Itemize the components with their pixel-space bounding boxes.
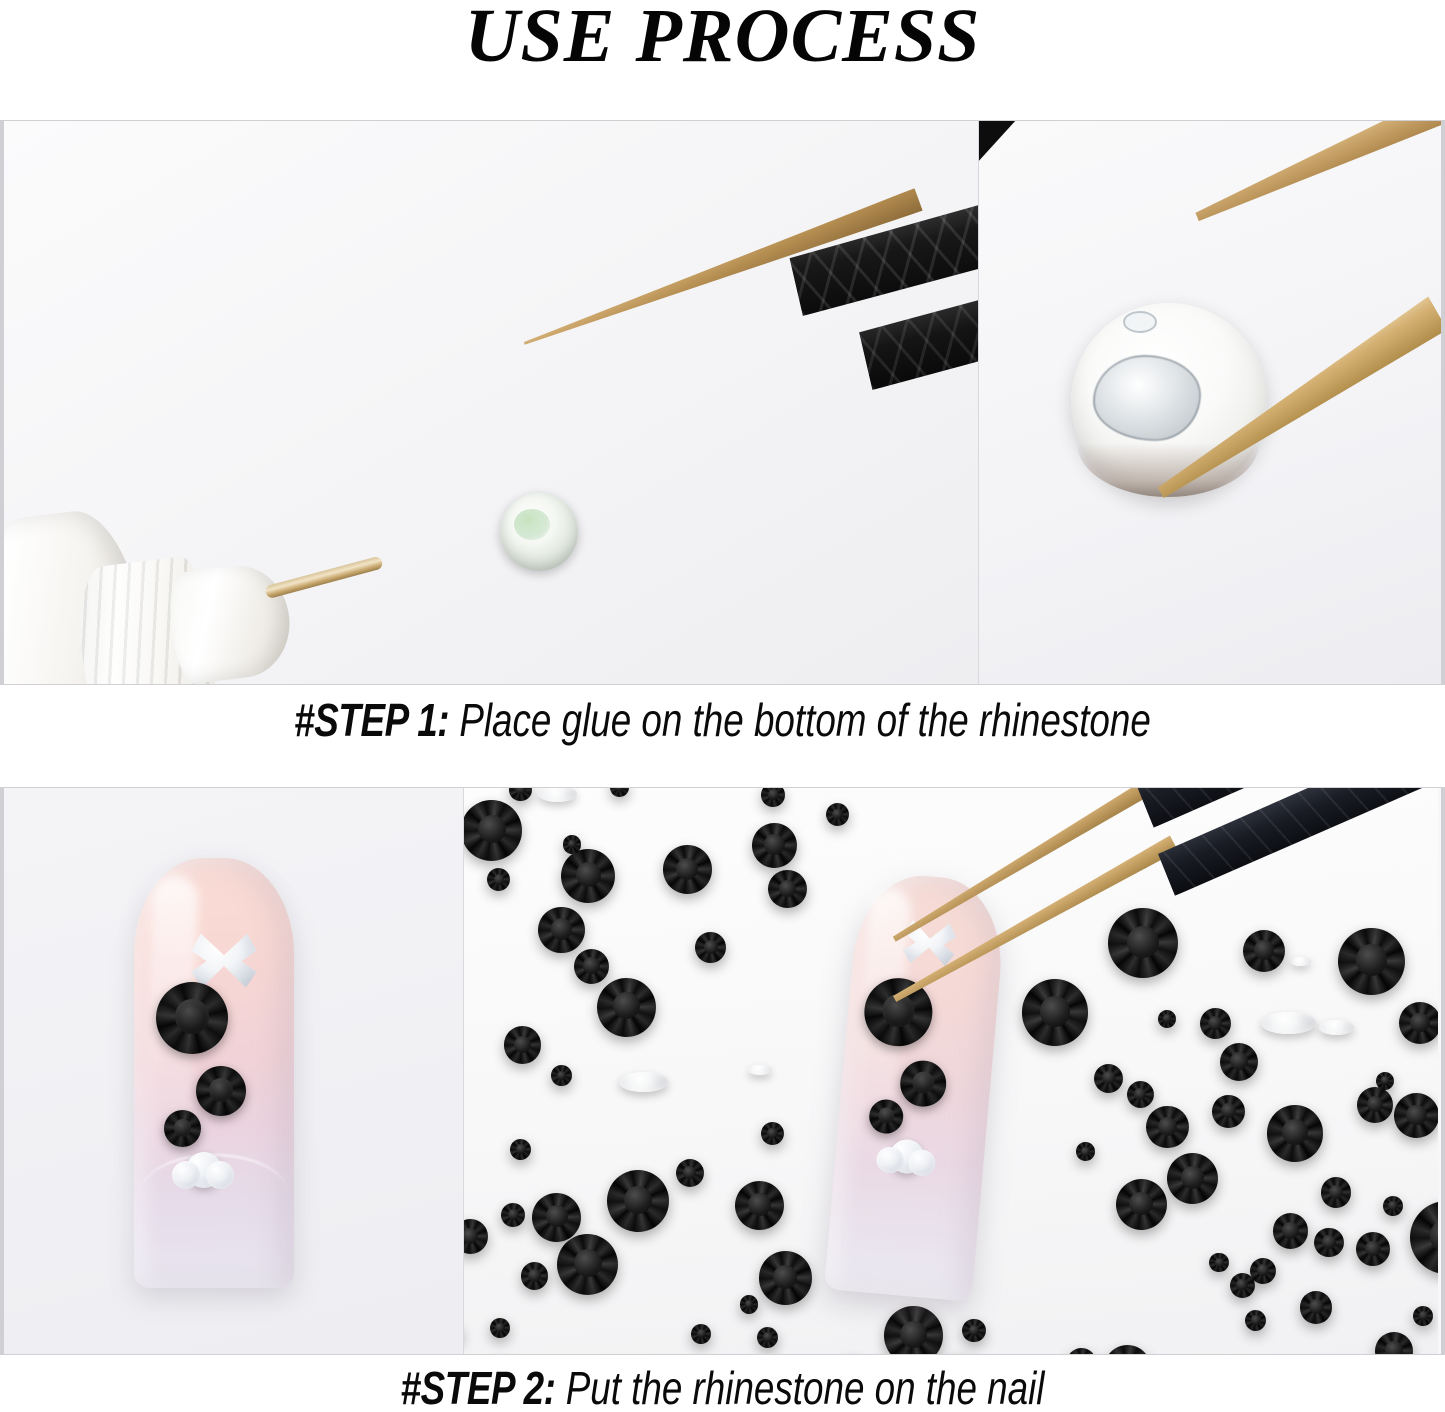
rhinestone-black [1200, 1008, 1231, 1039]
rhinestone-black [1209, 1253, 1229, 1273]
rhinestone-black [607, 1170, 669, 1232]
rhinestone-black [1127, 1081, 1154, 1108]
rhinestone-black [561, 849, 615, 903]
flower-gem-icon [186, 1152, 222, 1188]
rhinestone-black [1220, 1043, 1259, 1082]
glue-bottle [4, 479, 311, 684]
rhinestone-black [761, 1122, 784, 1145]
rhinestone-black [1104, 1345, 1151, 1354]
step-1-panel-row [0, 120, 1445, 685]
black-gem-medium [898, 1059, 948, 1109]
step-2-text: Put the rhinestone on the nail [566, 1362, 1045, 1412]
rhinestone-black [884, 1306, 943, 1354]
glue-droplet [1123, 311, 1157, 333]
rhinestone-black [1212, 1095, 1245, 1128]
glued-rhinestone-panel [978, 121, 1441, 684]
rhinestone-black [463, 1219, 488, 1254]
flower-gem-icon [888, 1138, 925, 1175]
rhinestone-black [1243, 930, 1286, 973]
rhinestone-black [1167, 1153, 1218, 1204]
butterfly-gem-icon [190, 930, 258, 990]
rhinestone-black [1413, 1306, 1433, 1326]
rhinestone-black [574, 949, 610, 985]
rhinestone-black [1338, 928, 1406, 996]
rhinestone-black [826, 803, 850, 827]
rhinestone-black [663, 845, 712, 894]
glue-blob [1093, 355, 1201, 441]
black-gem-medium [196, 1066, 246, 1116]
rhinestone-black [1158, 1010, 1176, 1028]
rhinestone-black [1094, 1064, 1123, 1093]
rhinestone-black [759, 1251, 812, 1304]
glue-applicator-panel [4, 121, 978, 684]
step-1-caption: #STEP 1: Place glue on the bottom of the… [145, 694, 1301, 746]
rhinestone-black [1314, 1228, 1344, 1258]
rhinestone-tray-panel [463, 788, 1438, 1354]
glue-bottle-tip [165, 560, 296, 684]
rhinestone-black [1410, 1201, 1438, 1274]
rhinestone-black [1108, 908, 1178, 978]
step-1-image-section [0, 120, 1445, 685]
rhinestone-black [757, 1327, 779, 1349]
rhinestone-black [695, 932, 726, 963]
rhinestone-black [1356, 1232, 1390, 1266]
rhinestone-black [768, 870, 806, 908]
rhinestone-black [501, 1203, 525, 1227]
rhinestone-black [504, 1026, 542, 1064]
infographic-page: USE PROCESS [0, 0, 1445, 1412]
rhinestone-black [1267, 1105, 1323, 1161]
finished-nail-panel [4, 788, 463, 1354]
rhinestone-black [563, 835, 581, 853]
rhinestone-black [1022, 979, 1089, 1046]
rhinestone-black [1250, 1258, 1276, 1284]
decorated-nail [134, 858, 294, 1288]
rhinestone-black [1245, 1310, 1266, 1331]
rhinestone-black [691, 1324, 711, 1344]
rhinestone-flatback [748, 1065, 772, 1075]
step-1-label: #STEP 1: [294, 694, 449, 746]
step-2-caption: #STEP 2: Put the rhinestone on the nail [145, 1362, 1301, 1412]
rhinestone-black [1321, 1177, 1351, 1207]
rhinestone-black [1273, 1213, 1309, 1249]
rhinestone-black [487, 868, 510, 891]
step-2-label: #STEP 2: [401, 1362, 556, 1412]
rhinestone-black [1383, 1196, 1403, 1216]
rhinestone-black [1357, 1087, 1393, 1123]
rhinestone-black [610, 788, 629, 797]
page-title: USE PROCESS [0, 0, 1445, 76]
rhinestone-black [1394, 1093, 1438, 1138]
rhinestone-held [1071, 303, 1267, 499]
rhinestone-black [1300, 1291, 1333, 1324]
rhinestone-black [1375, 1332, 1413, 1354]
black-gem-small [164, 1110, 201, 1147]
black-gem-large [156, 982, 228, 1054]
rhinestone-black [597, 978, 656, 1037]
rhinestone-black [735, 1181, 784, 1230]
rhinestone-black [1399, 1002, 1438, 1044]
rhinestone-black [962, 1319, 985, 1342]
rhinestone-black [740, 1295, 758, 1313]
step-2-image-section [0, 787, 1445, 1355]
tweezer-grip-corner [978, 121, 1017, 163]
step-2-panel-row [0, 787, 1445, 1355]
rhinestone-black [490, 1318, 510, 1338]
rhinestone-black [557, 1234, 618, 1295]
rhinestone-black [510, 1139, 531, 1160]
rhinestone-flatback [619, 1072, 668, 1093]
rhinestone-flatback [1290, 957, 1311, 966]
rhinestone-black [752, 823, 797, 868]
rhinestone-black [1116, 1179, 1167, 1230]
rhinestone-flatback [538, 788, 577, 802]
rhinestone-black [532, 1193, 581, 1242]
rhinestone-black [463, 800, 522, 861]
rhinestone-flatback [1319, 1020, 1355, 1035]
rhinestone-black [676, 1159, 704, 1187]
rhinestone-black [761, 788, 785, 807]
tweezer-upper-tip-icon [1187, 121, 1441, 243]
rhinestone-black [1230, 1273, 1255, 1298]
rhinestone-flatback [1261, 1012, 1315, 1035]
rhinestone-black [521, 1262, 548, 1289]
step-1-text: Place glue on the bottom of the rhinesto… [459, 694, 1151, 746]
rhinestone-black [1076, 1142, 1095, 1161]
rhinestone-black [538, 907, 585, 954]
rhinestone-black [551, 1065, 572, 1086]
rhinestone-black [1067, 1348, 1096, 1354]
rhinestone-black [509, 788, 531, 801]
rhinestone-on-applicator [500, 493, 578, 571]
glue-needle-tip [264, 556, 383, 600]
rhinestone-black [1146, 1106, 1188, 1148]
